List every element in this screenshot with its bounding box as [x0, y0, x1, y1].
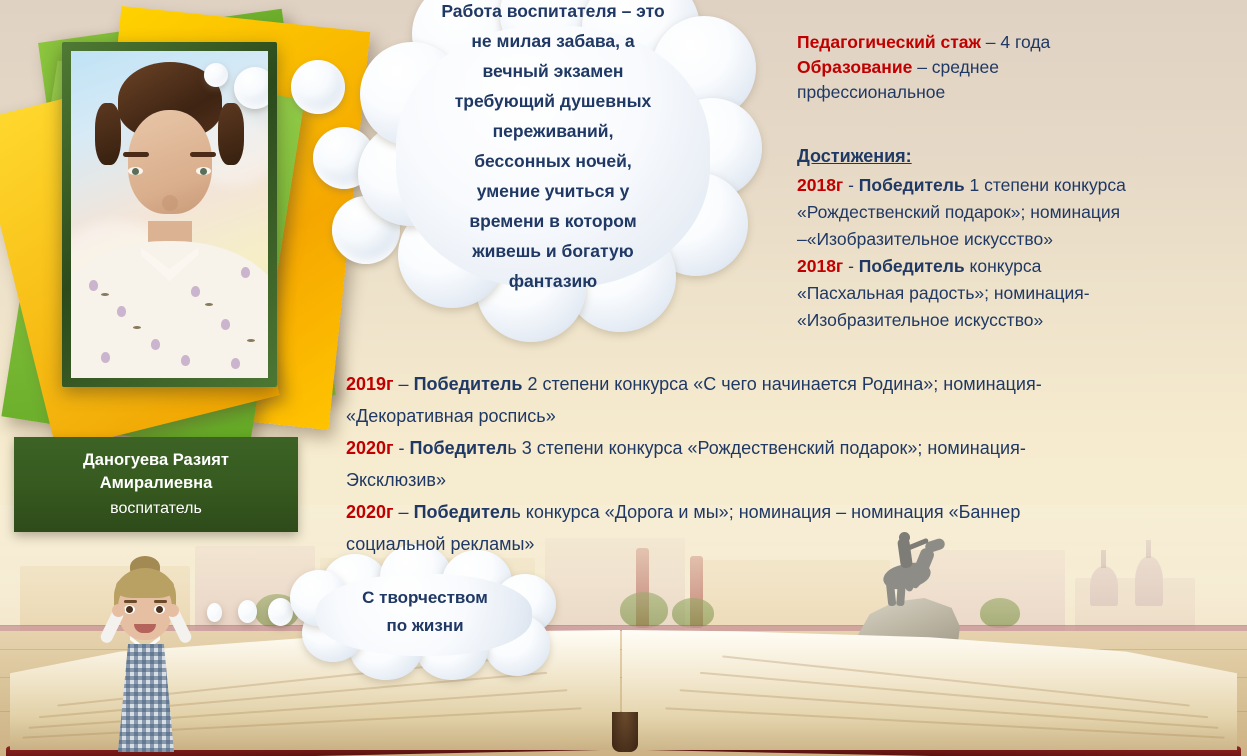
education-line-2: прфессиональное	[797, 80, 1245, 105]
portrait-photo	[71, 51, 268, 378]
education-label: Образование	[797, 57, 912, 77]
blouse-flower	[181, 355, 190, 366]
quote-line: не милая забава, а	[386, 26, 720, 56]
iris	[132, 168, 139, 175]
achievement-item: 2019г – Победитель 2 степени конкурса «С…	[346, 368, 1246, 400]
thought-bubble-large	[291, 60, 345, 114]
quote-line: фантазию	[386, 266, 720, 296]
nameplate: Даногуева Разият Амиралиевна воспитатель	[14, 437, 298, 532]
slide-canvas: Работа воспитателя – это не милая забава…	[0, 0, 1247, 756]
blouse-flower	[221, 319, 230, 330]
girl-fringe	[116, 574, 174, 598]
achievement-winner: Победитель	[414, 374, 523, 394]
iris	[156, 606, 163, 613]
blouse-leaf	[205, 303, 213, 306]
blouse-leaf	[247, 339, 255, 342]
blouse-leaf	[101, 293, 109, 296]
blouse-flower	[151, 339, 160, 350]
iris	[200, 168, 207, 175]
achievement-rest: конкурса	[965, 256, 1042, 276]
achievements-bottom-list: 2019г – Победитель 2 степени конкурса «С…	[346, 368, 1246, 560]
achievement-year: 2018г	[797, 256, 843, 276]
achievement-year: 2020г	[346, 502, 394, 522]
achievement-rest: 2 степени конкурса «С чего начинается Ро…	[522, 374, 1041, 394]
achievement-year: 2019г	[346, 374, 394, 394]
page-edge-lines-right	[635, 632, 1235, 750]
quote-text: Работа воспитателя – это не милая забава…	[386, 0, 720, 296]
achievements-heading: Достижения:	[797, 146, 912, 167]
girl-hand-left	[112, 604, 125, 617]
blouse-leaf	[133, 326, 141, 329]
achievement-dash: -	[843, 175, 859, 195]
teacher-role: воспитатель	[110, 497, 202, 520]
achievement-dash: –	[394, 374, 414, 394]
quote-line: Работа воспитателя – это	[386, 0, 720, 26]
portrait-frame	[62, 42, 277, 387]
achievement-item: 2020г - Победитель 3 степени конкурса «Р…	[346, 432, 1246, 464]
girl-eyebrow-left	[124, 600, 137, 603]
quote-line: вечный экзамен	[386, 56, 720, 86]
education-value: – среднее	[912, 57, 999, 77]
achievement-rest: ь конкурса «Дорога и мы»; номинация – но…	[511, 502, 1020, 522]
achievement-dash: -	[843, 256, 859, 276]
teacher-info-block: Педагогический стаж – 4 года Образование…	[797, 30, 1245, 105]
achievement-item: 2018г - Победитель конкурса	[797, 253, 1247, 280]
girl-checkered-dress	[118, 644, 174, 752]
blouse-flower	[241, 267, 250, 278]
experience-value: – 4 года	[981, 32, 1050, 52]
achievement-item: 2018г - Победитель 1 степени конкурса	[797, 172, 1247, 199]
motto-text: С творчеством по жизни	[314, 584, 536, 640]
hair-left	[95, 103, 121, 165]
achievement-winner: Победител	[414, 502, 512, 522]
education-line: Образование – среднее	[797, 55, 1245, 80]
achievements-top-list: 2018г - Победитель 1 степени конкурса «Р…	[797, 172, 1247, 334]
schoolgirl-character	[96, 556, 196, 756]
iris	[126, 606, 133, 613]
girl-hand-right	[166, 604, 179, 617]
blouse-flower	[101, 352, 110, 363]
achievement-winner: Победител	[410, 438, 508, 458]
achievement-line: «Пасхальная радость»; номинация-	[797, 280, 1247, 307]
motto-line: по жизни	[314, 612, 536, 640]
eyebrow-right	[190, 152, 216, 157]
motto-bubble-2	[238, 600, 257, 623]
experience-line: Педагогический стаж – 4 года	[797, 30, 1245, 55]
achievement-line: «Декоративная роспись»	[346, 400, 1246, 432]
quote-line: умение учиться у	[386, 176, 720, 206]
blouse-flower	[117, 306, 126, 317]
hair-right	[218, 103, 244, 165]
book-spine	[612, 712, 638, 752]
achievement-line: –«Изобразительное искусство»	[797, 226, 1247, 253]
experience-label: Педагогический стаж	[797, 32, 981, 52]
achievement-winner: Победитель	[859, 175, 965, 195]
thought-bubble-medium	[234, 67, 268, 109]
achievement-rest: ь 3 степени конкурса «Рождественский под…	[507, 438, 1025, 458]
achievement-line: «Рождественский подарок»; номинация	[797, 199, 1247, 226]
girl-eye-left	[124, 605, 135, 614]
quote-line: бессонных ночей,	[386, 146, 720, 176]
quote-line: требующий душевных	[386, 86, 720, 116]
achievement-year: 2020г	[346, 438, 394, 458]
quote-line: времени в котором	[386, 206, 720, 236]
teacher-name-line2: Амиралиевна	[100, 472, 213, 495]
achievement-line: «Изобразительное искусство»	[797, 307, 1247, 334]
motto-bubble-1	[207, 603, 222, 622]
achievement-rest: 1 степени конкурса	[965, 175, 1126, 195]
motto-cloud: С творчеством по жизни	[288, 548, 568, 680]
achievement-year: 2018г	[797, 175, 843, 195]
achievement-winner: Победитель	[859, 256, 965, 276]
quote-line: переживаний,	[386, 116, 720, 146]
achievement-dash: –	[394, 502, 414, 522]
nose	[162, 195, 178, 211]
achievement-item: 2020г – Победитель конкурса «Дорога и мы…	[346, 496, 1246, 528]
achievement-line: Эксклюзив»	[346, 464, 1246, 496]
motto-line: С творчеством	[314, 584, 536, 612]
quote-cloud: Работа воспитателя – это не милая забава…	[352, 0, 752, 352]
quote-line: живешь и богатую	[386, 236, 720, 266]
girl-eyebrow-right	[154, 600, 167, 603]
blouse-flower	[89, 280, 98, 291]
thought-bubble-small	[204, 63, 228, 87]
achievement-dash: -	[394, 438, 410, 458]
achievement-line: социальной рекламы»	[346, 528, 1246, 560]
teacher-name-line1: Даногуева Разият	[83, 449, 229, 472]
eyebrow-left	[123, 152, 149, 157]
girl-eye-right	[154, 605, 165, 614]
